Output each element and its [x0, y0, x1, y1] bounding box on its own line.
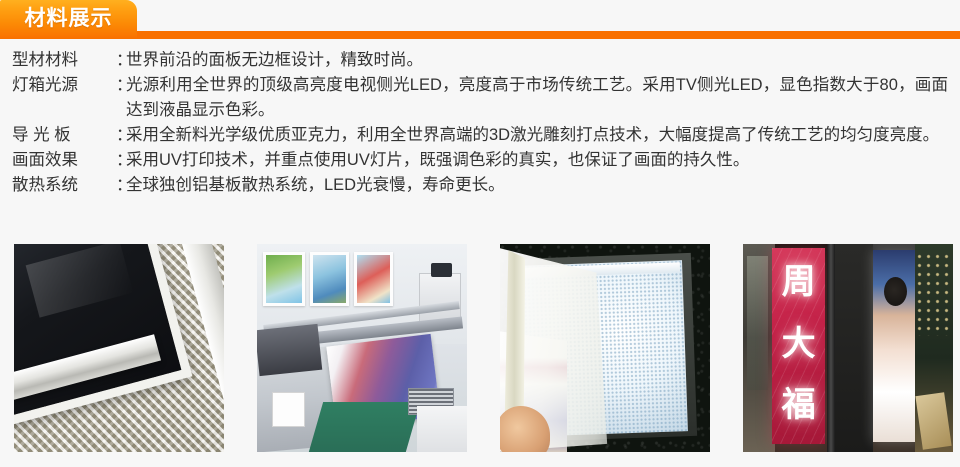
material-showcase-page: 材料展示 型材材料 ： 世界前沿的面板无边框设计，精致时尚。 灯箱光源 ： 光源…: [0, 0, 960, 467]
left-glass-reflection: [747, 256, 768, 389]
spec-value: 采用UV打印技术，并重点使用UV灯片，既强调色彩的真实，也保证了画面的持久性。: [126, 148, 948, 173]
spec-row: 画面效果 ： 采用UV打印技术，并重点使用UV灯片，既强调色彩的真实，也保证了画…: [12, 148, 948, 173]
spec-row: 导 光 板 ： 采用全新料光学级优质亚克力，利用全世界高端的3D激光雕刻打点技术…: [12, 123, 948, 148]
side-worktable: [417, 406, 467, 452]
banner-character: 福: [772, 388, 825, 422]
print-head-carriage: [257, 324, 322, 376]
uv-flatbed-printer-photo: [257, 244, 467, 452]
header-underline-bar: [0, 31, 960, 39]
specification-list: 型材材料 ： 世界前沿的面板无边框设计，精致时尚。 灯箱光源 ： 光源利用全世界…: [0, 40, 960, 198]
spec-value: 采用全新料光学级优质亚克力，利用全世界高端的3D激光雕刻打点技术，大幅度提高了传…: [126, 123, 948, 148]
spec-value: 世界前沿的面板无边框设计，精致时尚。: [126, 48, 948, 73]
wall-print-sample: [354, 252, 394, 306]
spec-label: 型材材料: [12, 48, 116, 73]
machine-label-sheet: [272, 392, 306, 427]
green-epoxy-floor: [309, 402, 420, 452]
spec-colon: ：: [116, 173, 126, 198]
spec-colon: ：: [116, 123, 126, 148]
cabinet-top-box: [431, 263, 452, 278]
wall-print-sample: [310, 252, 350, 306]
spec-label: 导 光 板: [12, 123, 116, 148]
spec-row: 型材材料 ： 世界前沿的面板无边框设计，精致时尚。: [12, 48, 948, 73]
photo-gallery: 周 大 福: [0, 244, 960, 454]
air-conditioner-cabinet: [419, 273, 461, 323]
spec-value: 光源利用全世界的顶级高亮度电视侧光LED，亮度高于市场传统工艺。采用TV侧光LE…: [126, 73, 948, 123]
storefront-lightbox-photo: 周 大 福: [743, 244, 953, 452]
section-header: 材料展示: [0, 0, 960, 40]
spec-value: 全球独创铝基板散热系统，LED光衰慢，寿命更长。: [126, 173, 948, 198]
section-title-text: 材料展示: [25, 8, 113, 29]
spec-row: 灯箱光源 ： 光源利用全世界的顶级高亮度电视侧光LED，亮度高于市场传统工艺。采…: [12, 73, 948, 123]
spec-label: 灯箱光源: [12, 73, 116, 98]
spec-label: 画面效果: [12, 148, 116, 173]
light-guide-panel-photo: [500, 244, 710, 452]
poster-figure-head: [884, 277, 907, 306]
spec-label: 散热系统: [12, 173, 116, 198]
spec-row: 散热系统 ： 全球独创铝基板散热系统，LED光衰慢，寿命更长。: [12, 173, 948, 198]
spec-colon: ：: [116, 148, 126, 173]
aluminium-frame-corner-photo: [14, 244, 224, 452]
wall-print-sample: [263, 252, 305, 306]
spec-colon: ：: [116, 48, 126, 73]
store-interior-dark: [835, 244, 873, 452]
banner-character: 大: [772, 327, 825, 361]
ceiling-light-dots: [915, 252, 953, 335]
door-mullion: [827, 244, 835, 452]
banner-character: 周: [772, 265, 825, 299]
spec-colon: ：: [116, 73, 126, 98]
section-title-tab: 材料展示: [0, 0, 137, 39]
